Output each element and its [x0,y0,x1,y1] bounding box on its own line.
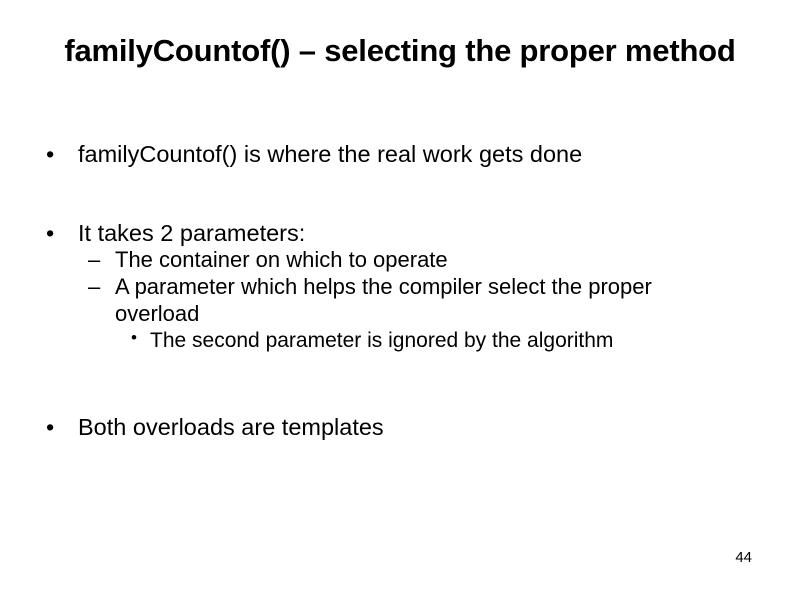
list-item-label: It takes 2 parameters: [78,220,305,246]
list-item: – A parameter which helps the compiler s… [0,274,800,328]
bullet-marker-icon: • [131,327,137,350]
paragraph-spacer [0,353,800,413]
list-item-label: The container on which to operate [115,247,685,274]
bullet-marker-icon: • [46,413,54,442]
paragraph-spacer [0,169,800,219]
bullet-marker-icon: • [46,140,54,169]
list-item: • It takes 2 parameters: [0,219,800,248]
list-item: – The container on which to operate [0,247,800,274]
list-item: • familyCountof() is where the real work… [0,140,800,169]
slide: familyCountof() – selecting the proper m… [0,0,800,600]
bullet-list: • familyCountof() is where the real work… [0,140,800,442]
bullet-marker-icon: • [46,219,54,248]
dash-marker-icon: – [88,247,100,274]
list-item-label: A parameter which helps the compiler sel… [115,274,685,328]
list-item-label: Both overloads are templates [78,414,384,440]
dash-marker-icon: – [88,274,100,301]
list-item: • The second parameter is ignored by the… [0,328,800,354]
page-number: 44 [735,550,752,565]
list-item-label: The second parameter is ignored by the a… [150,329,613,352]
list-item: • Both overloads are templates [0,413,800,442]
list-item-label: familyCountof() is where the real work g… [78,141,582,167]
page-title: familyCountof() – selecting the proper m… [60,30,740,73]
